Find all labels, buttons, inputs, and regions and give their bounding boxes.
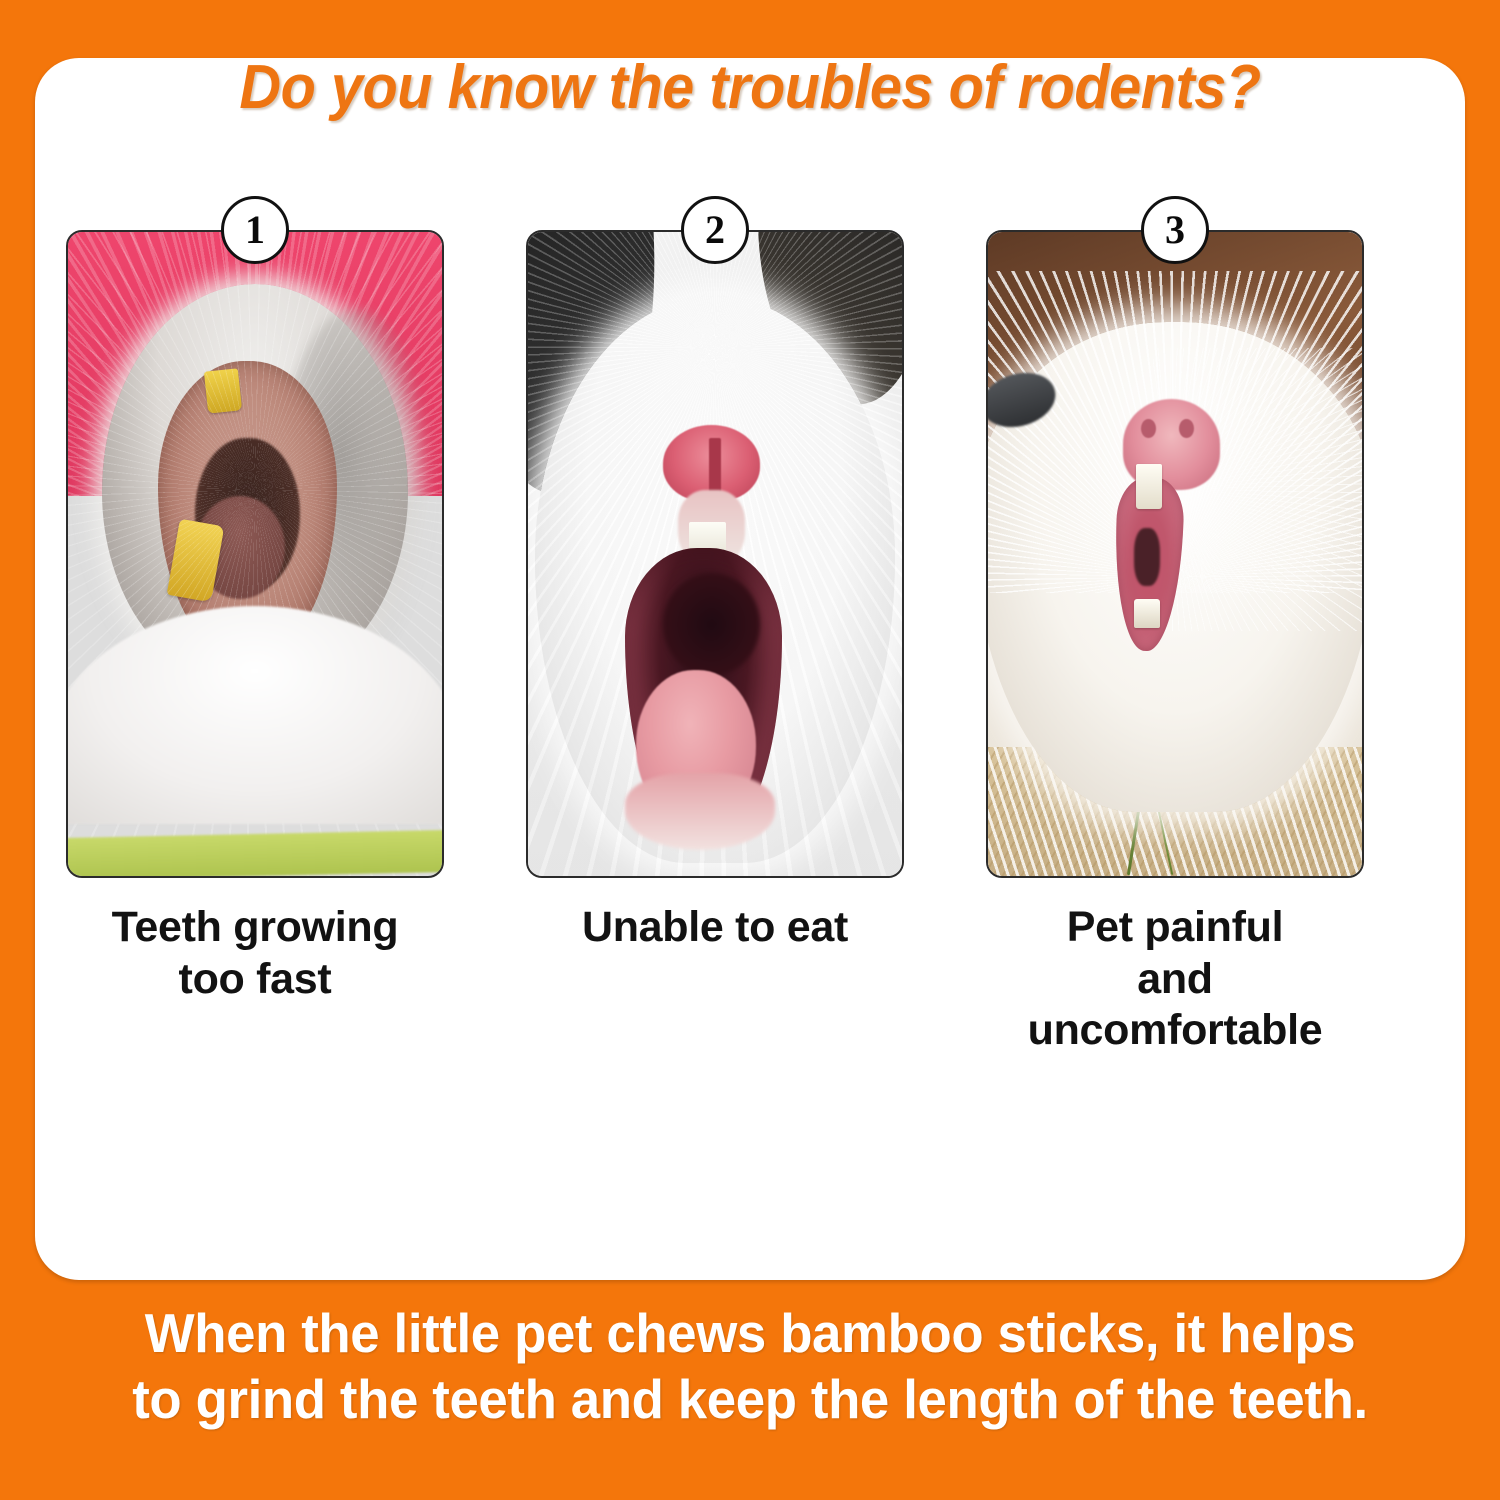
infographic-canvas: Do you know the troubles of rodents?: [0, 0, 1500, 1500]
problem-card-1: 1 Teeth growing too fast: [65, 230, 445, 1005]
card-caption-1: Teeth growing too fast: [112, 902, 399, 1005]
step-badge-1: 1: [221, 196, 289, 264]
photo-hamster-open-mouth: [986, 230, 1364, 878]
footer-message: When the little pet chews bamboo sticks,…: [30, 1300, 1470, 1432]
step-badge-3: 3: [1141, 196, 1209, 264]
card-caption-2: Unable to eat: [582, 902, 848, 954]
step-badge-2: 2: [681, 196, 749, 264]
photo-rodent-overgrown-teeth: [66, 230, 444, 878]
photo-wrapper-3: 3: [986, 230, 1364, 878]
problem-card-2: 2 Unable to eat: [525, 230, 905, 954]
problem-card-3: 3 Pet painful and uncomfortable: [985, 230, 1365, 1057]
photo-rabbit-yawning: [526, 230, 904, 878]
card-caption-3: Pet painful and uncomfortable: [1028, 902, 1323, 1057]
photo-wrapper-2: 2: [526, 230, 904, 878]
page-title: Do you know the troubles of rodents?: [53, 52, 1448, 123]
photo-wrapper-1: 1: [66, 230, 444, 878]
problem-cards-row: 1 Teeth growing too fast: [65, 230, 1365, 1057]
